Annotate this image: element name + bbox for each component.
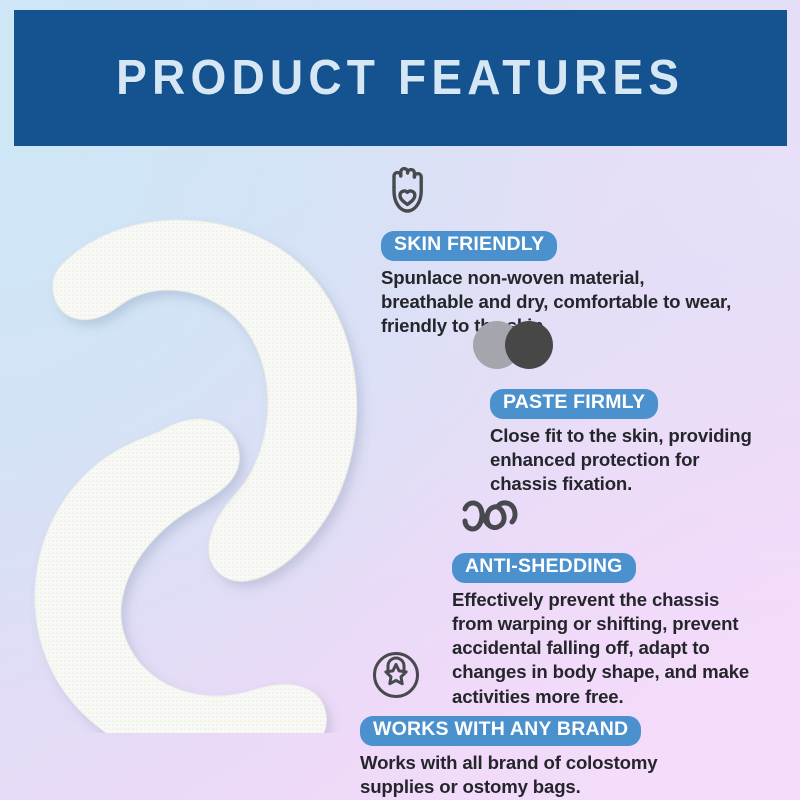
star-badge-circle-icon	[371, 650, 421, 700]
circle-dark	[505, 321, 553, 369]
feature-paste-firmly: PASTE FIRMLY Close fit to the skin, prov…	[490, 389, 755, 496]
header-banner: PRODUCT FEATURES	[14, 10, 787, 146]
interlocked-loops-icon	[458, 497, 522, 537]
feature-anti-shedding: ANTI-SHEDDING Effectively prevent the ch…	[452, 553, 757, 709]
feature-description-works-with-any-brand: Works with all brand of colostomy suppli…	[360, 751, 690, 799]
hand-heart-icon	[384, 163, 430, 215]
product-image	[22, 188, 388, 733]
overlapping-circles-icon	[473, 321, 567, 369]
feature-label-paste-firmly: PASTE FIRMLY	[490, 389, 658, 419]
feature-label-anti-shedding: ANTI-SHEDDING	[452, 553, 636, 583]
product-features-poster: PRODUCT FEATURES	[0, 0, 800, 800]
page-title: PRODUCT FEATURES	[116, 54, 684, 103]
feature-description-paste-firmly: Close fit to the skin, providing enhance…	[490, 424, 755, 497]
feature-description-anti-shedding: Effectively prevent the chassis from war…	[452, 588, 757, 709]
feature-label-skin-friendly: SKIN FRIENDLY	[381, 231, 557, 261]
feature-label-works-with-any-brand: WORKS WITH ANY BRAND	[360, 716, 641, 746]
feature-works-with-any-brand: WORKS WITH ANY BRAND Works with all bran…	[360, 716, 690, 799]
